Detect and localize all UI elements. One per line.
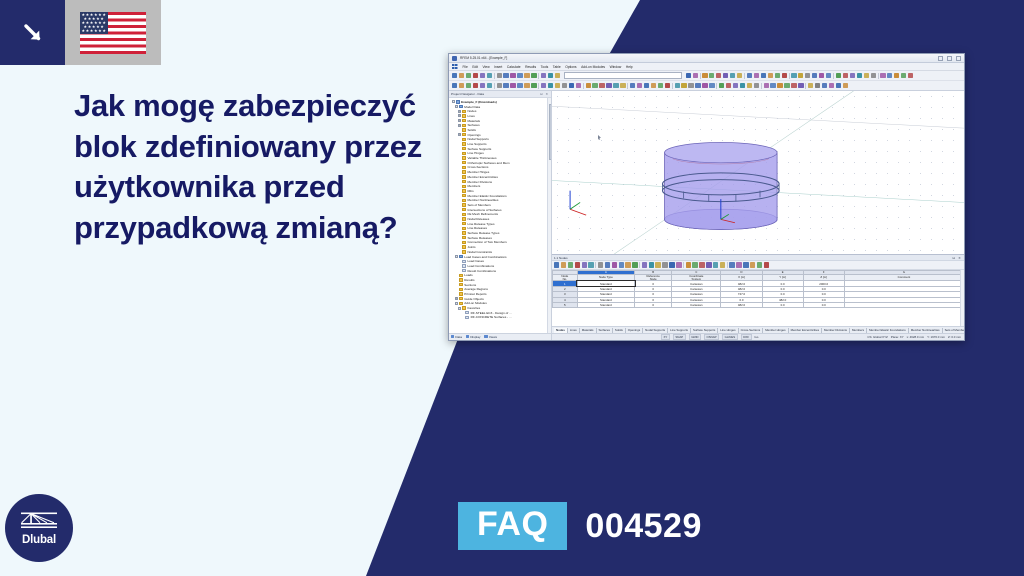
toolbar-separator	[700, 73, 701, 79]
folder-icon	[462, 119, 466, 122]
folder-icon	[462, 241, 466, 244]
statusbar-toggle[interactable]: GLINES	[722, 334, 738, 340]
toolbar-button[interactable]	[466, 83, 471, 88]
menu-item-help[interactable]: Help	[626, 65, 633, 69]
arrow-down-right-icon	[20, 20, 46, 46]
toolbar-button[interactable]	[729, 262, 734, 267]
table-panel-close-icon[interactable]: ⊟ ✕	[953, 256, 962, 260]
toolbar-button[interactable]	[750, 262, 755, 267]
toolbar-button[interactable]	[702, 73, 707, 78]
navigator-tab-display[interactable]: Display	[466, 335, 481, 339]
navigator-item-label: Nodal Constraints	[467, 250, 492, 254]
table-tab[interactable]: Members	[850, 328, 867, 333]
restore-icon[interactable]	[947, 56, 952, 61]
table-tab[interactable]: Lines	[568, 328, 580, 333]
toolbar-button[interactable]	[695, 83, 700, 88]
toolbar-button[interactable]	[480, 83, 485, 88]
tree-spacer	[458, 128, 461, 131]
toolbar-button[interactable]	[723, 73, 728, 78]
toolbar-button[interactable]	[798, 83, 803, 88]
toolbar-button[interactable]	[819, 73, 824, 78]
table-cell[interactable]	[844, 302, 963, 307]
app-toolbar-row1[interactable]	[449, 71, 964, 81]
toolbar-button[interactable]	[675, 83, 680, 88]
toolbar-button[interactable]	[620, 83, 625, 88]
statusbar-info: Z: 0.0 mm	[948, 335, 961, 339]
menu-item-window[interactable]: Window	[610, 65, 622, 69]
toolbar-button[interactable]	[669, 262, 674, 267]
expand-icon[interactable]: +	[458, 114, 461, 117]
toolbar-button[interactable]	[613, 83, 618, 88]
window-controls[interactable]	[938, 56, 961, 61]
folder-icon	[462, 185, 466, 188]
tree-spacer	[458, 171, 461, 174]
table-cell[interactable]: Standard	[577, 302, 635, 307]
toolbar-button[interactable]	[649, 262, 654, 267]
navigator-item-label: FE Mesh Refinements	[467, 212, 498, 216]
table-tab[interactable]: Cross-Sections	[739, 328, 764, 333]
toolbar-separator	[583, 83, 584, 89]
table-tab[interactable]: Materials	[580, 328, 597, 333]
app-menubar[interactable]: File Edit View Insert Calculate Results …	[449, 63, 964, 71]
toolbar-button[interactable]	[829, 83, 834, 88]
toolbar-button[interactable]	[606, 83, 611, 88]
toolbar-button[interactable]	[644, 83, 649, 88]
folder-icon	[459, 278, 463, 281]
toolbar-button[interactable]	[473, 83, 478, 88]
toolbar-button[interactable]	[630, 83, 635, 88]
table-tab[interactable]: Member Eccentricities	[789, 328, 822, 333]
toolbar-button[interactable]	[713, 262, 718, 267]
toolbar-button[interactable]	[880, 73, 885, 78]
folder-icon	[462, 147, 466, 150]
tree-spacer	[458, 147, 461, 150]
collapse-icon[interactable]: -	[458, 307, 461, 310]
tree-spacer	[458, 194, 461, 197]
toolbar-button[interactable]	[452, 73, 457, 78]
table-toolbar[interactable]	[552, 261, 964, 270]
toolbar-button[interactable]	[908, 73, 913, 78]
toolbar-button[interactable]	[798, 73, 803, 78]
navigator-item-label: Loads	[464, 273, 472, 277]
toolbar-button[interactable]	[764, 262, 769, 267]
toolbar-button[interactable]	[747, 83, 752, 88]
toolbar-button[interactable]	[702, 83, 707, 88]
nodes-table[interactable]: ABCDEFGNodeNo.Node TypeReferenceNodeCoor…	[552, 270, 964, 308]
table-tabstrip[interactable]: NodesLinesMaterialsSurfacesSolidsOpening…	[552, 326, 964, 333]
slide-canvas: ★★★★★★ ★★★★★ ★★★★★★ ★★★★★ ★★★★★★ Jak mog…	[0, 0, 1024, 576]
app-statusbar: XYSNAPGRIDOSNAPGLINESDXFIsoCS: Global XY…	[552, 333, 964, 340]
toolbar-button[interactable]	[864, 73, 869, 78]
toolbar-button[interactable]	[658, 83, 663, 88]
navigator-item-label: Line Hinges	[467, 151, 483, 155]
toolbar-button[interactable]	[686, 262, 691, 267]
navigator-close-icon[interactable]: ⊟ ✕	[540, 92, 549, 96]
toolbar-button[interactable]	[782, 73, 787, 78]
folder-icon	[459, 288, 463, 291]
toolbar-button[interactable]	[586, 83, 591, 88]
toolbar-button[interactable]	[843, 83, 848, 88]
navigator-item-label: Surface Release Types	[467, 231, 499, 235]
nodes-table-wrapper[interactable]: ABCDEFGNodeNo.Node TypeReferenceNodeCoor…	[552, 270, 964, 326]
table-scrollbar[interactable]	[960, 270, 964, 326]
toolbar-button[interactable]	[733, 83, 738, 88]
tree-spacer	[461, 316, 464, 319]
toolbar-separator	[595, 262, 596, 268]
navigator-item-label: Orthotropic Surfaces and Mem	[467, 161, 509, 165]
toolbar-button[interactable]	[473, 73, 478, 78]
toolbar-button[interactable]	[857, 73, 862, 78]
table-tab[interactable]: Member Nonlinearities	[909, 328, 943, 333]
folder-icon	[462, 269, 466, 272]
toolbar-button[interactable]	[764, 83, 769, 88]
toolbar-button[interactable]	[822, 83, 827, 88]
toolbar-button[interactable]	[770, 83, 775, 88]
tree-spacer	[458, 199, 461, 202]
tree-spacer	[458, 185, 461, 188]
menu-item-edit[interactable]: Edit	[472, 65, 478, 69]
toolbar-button[interactable]	[480, 73, 485, 78]
table-tab[interactable]: Nodes	[554, 328, 568, 333]
table-tab[interactable]: Nodal Supports	[643, 328, 668, 333]
rfem-application-window: RFEM 5.25.01 x64 - [Example_F] File Edit…	[448, 53, 965, 341]
toolbar-button[interactable]	[599, 83, 604, 88]
folder-icon	[459, 255, 463, 258]
toolbar-button[interactable]	[612, 262, 617, 267]
toolbar-button[interactable]	[871, 73, 876, 78]
toolbar-button[interactable]	[459, 73, 464, 78]
row-number-cell[interactable]: 5	[553, 302, 578, 307]
tree-spacer	[458, 222, 461, 225]
tree-spacer	[458, 213, 461, 216]
toolbar-button[interactable]	[497, 73, 502, 78]
tree-spacer	[455, 288, 458, 291]
navigator-item-label: Member Divisions	[467, 180, 492, 184]
toolbar-button[interactable]	[575, 262, 580, 267]
folder-icon	[462, 166, 466, 169]
folder-icon	[462, 156, 466, 159]
menu-item-view[interactable]: View	[483, 65, 490, 69]
navigator-item-label: Connection of Two Members	[467, 240, 506, 244]
toolbar-button[interactable]	[531, 73, 536, 78]
navigator-item-label: RF-CONCRETE Surfaces - ...	[471, 315, 512, 319]
toolbar-button[interactable]	[775, 73, 780, 78]
navigator-item-label: Sections	[464, 283, 476, 287]
tree-spacer	[455, 278, 458, 281]
toolbar-button[interactable]	[791, 83, 796, 88]
toolbar-button[interactable]	[720, 262, 725, 267]
navigator-item-label: Favorites	[467, 306, 480, 310]
expand-icon[interactable]: +	[458, 110, 461, 113]
toolbar-separator	[494, 73, 495, 79]
project-navigator: Project Navigator - Data ⊟ ✕ -Example_F …	[449, 91, 552, 340]
table-cell[interactable]: 0.0	[803, 302, 844, 307]
toolbar-button[interactable]	[541, 83, 546, 88]
collapse-icon[interactable]: -	[452, 100, 455, 103]
tree-spacer	[458, 161, 461, 164]
toolbar-button[interactable]	[719, 83, 724, 88]
toolbar-button[interactable]	[524, 73, 529, 78]
expand-icon[interactable]: +	[458, 119, 461, 122]
app-titlebar: RFEM 5.25.01 x64 - [Example_F]	[449, 54, 964, 63]
tree-spacer	[458, 152, 461, 155]
toolbar-button[interactable]	[569, 83, 574, 88]
folder-icon	[462, 236, 466, 239]
toolbar-button[interactable]	[736, 262, 741, 267]
toolbar-button[interactable]	[737, 73, 742, 78]
toolbar-button[interactable]	[791, 73, 796, 78]
folder-icon	[462, 222, 466, 225]
toolbar-button[interactable]	[582, 262, 587, 267]
toolbar-button[interactable]	[754, 73, 759, 78]
statusbar-info: Y: 1976.0 mm	[927, 335, 945, 339]
toolbar-separator	[627, 83, 628, 89]
table-tab[interactable]: Member Hinges	[763, 328, 788, 333]
navigator-item-label: Members	[467, 184, 480, 188]
navigator-scrollbar[interactable]	[547, 98, 551, 333]
toolbar-button[interactable]	[561, 262, 566, 267]
toolbar-button[interactable]	[757, 262, 762, 267]
navigator-item-label: Joints	[467, 245, 475, 249]
toolbar-button[interactable]	[850, 73, 855, 78]
expand-icon[interactable]: +	[455, 297, 458, 300]
table-tab[interactable]: Member Elastic Foundations	[867, 328, 909, 333]
navigator-item-label: Member Elastic Foundations	[467, 194, 506, 198]
toolbar-button[interactable]	[826, 73, 831, 78]
toolbar-button[interactable]	[805, 73, 810, 78]
toolbar-button[interactable]	[531, 83, 536, 88]
table-tab[interactable]: Surfaces	[597, 328, 613, 333]
toolbar-button[interactable]	[598, 262, 603, 267]
toolbar-separator	[672, 83, 673, 89]
table-cell[interactable]: Cartesian	[672, 302, 721, 307]
toolbar-button[interactable]	[517, 83, 522, 88]
tree-spacer	[458, 203, 461, 206]
toolbar-button[interactable]	[716, 73, 721, 78]
toolbar-button[interactable]	[554, 262, 559, 267]
table-tab[interactable]: Line Supports	[668, 328, 691, 333]
statusbar-toggle[interactable]: GRID	[689, 334, 701, 340]
toolbar-button[interactable]	[642, 262, 647, 267]
toolbar-button[interactable]	[632, 262, 637, 267]
toolbar-button[interactable]	[555, 73, 560, 78]
table-panel: 1.1 Nodes ⊟ ✕ ABCDEFGNodeNo.Node TypeRef…	[552, 254, 964, 333]
table-tab[interactable]: Sets of Members	[943, 328, 964, 333]
table-tab[interactable]: Openings	[626, 328, 643, 333]
navigator-item-label: Add-on Modules	[464, 301, 487, 305]
menu-item-table[interactable]: Table	[553, 65, 561, 69]
table-tab[interactable]: Line Hinges	[718, 328, 738, 333]
folder-icon	[462, 194, 466, 197]
toolbar-button[interactable]	[503, 73, 508, 78]
expand-icon[interactable]: +	[458, 124, 461, 127]
toolbar-button[interactable]	[777, 83, 782, 88]
table-cell[interactable]: 482.0	[721, 302, 762, 307]
toolbar-button[interactable]	[812, 73, 817, 78]
tree-spacer	[458, 189, 461, 192]
toolbar-button[interactable]	[655, 262, 660, 267]
toolbar-button[interactable]	[541, 73, 546, 78]
dlubal-logo[interactable]: Dlubal	[5, 494, 73, 562]
toolbar-button[interactable]	[576, 83, 581, 88]
toolbar-button[interactable]	[625, 262, 630, 267]
toolbar-button[interactable]	[487, 73, 492, 78]
toolbar-button[interactable]	[743, 262, 748, 267]
model-viewport-3d[interactable]	[552, 91, 964, 254]
toolbar-button[interactable]	[665, 83, 670, 88]
folder-icon	[462, 170, 466, 173]
toolbar-button[interactable]	[568, 262, 573, 267]
toolbar-button[interactable]	[887, 73, 892, 78]
toolbar-button[interactable]	[487, 83, 492, 88]
navigator-tab-data[interactable]: Data	[451, 335, 462, 339]
statusbar-toggle[interactable]: DXF	[741, 334, 752, 340]
minimize-icon[interactable]	[938, 56, 943, 61]
folder-icon	[462, 250, 466, 253]
toolbar-button[interactable]	[768, 73, 773, 78]
toolbar-button[interactable]	[562, 83, 567, 88]
navigator-item-label: Printout Reports	[464, 292, 486, 296]
folder-icon	[462, 124, 466, 127]
toolbar-button[interactable]	[709, 73, 714, 78]
toolbar-button[interactable]	[503, 83, 508, 88]
toolbar-separator	[789, 73, 790, 79]
folder-icon	[462, 175, 466, 178]
navigator-item-label: Guide Objects	[464, 297, 484, 301]
app-toolbar-row2[interactable]	[449, 81, 964, 91]
toolbar-button[interactable]	[497, 83, 502, 88]
toolbar-button[interactable]	[754, 83, 759, 88]
collapse-icon[interactable]: -	[455, 105, 458, 108]
navigator-tab-views[interactable]: Views	[484, 335, 497, 339]
menu-item-calculate[interactable]: Calculate	[507, 65, 521, 69]
tree-spacer	[458, 166, 461, 169]
tree-spacer	[458, 180, 461, 183]
toolbar-button[interactable]	[459, 83, 464, 88]
navigator-tree[interactable]: -Example_F (Downloads)-Model Data+Nodes+…	[449, 98, 551, 333]
menu-item-tools[interactable]: Tools	[541, 65, 549, 69]
toolbar-button[interactable]	[676, 262, 681, 267]
statusbar-toggle[interactable]: OSNAP	[704, 334, 719, 340]
expand-icon[interactable]: +	[458, 133, 461, 136]
statusbar-toggle[interactable]: SNAP	[673, 334, 686, 340]
toolbar-button[interactable]	[693, 73, 698, 78]
menu-item-addon-modules[interactable]: Add-on Modules	[581, 65, 605, 69]
toolbar-button[interactable]	[709, 83, 714, 88]
navigator-tree-item[interactable]: RF-CONCRETE Surfaces - ...	[451, 315, 552, 320]
toolbar-button[interactable]	[740, 83, 745, 88]
menu-item-options[interactable]: Options	[565, 65, 576, 69]
menu-item-file[interactable]: File	[463, 65, 468, 69]
toolbar-button[interactable]	[894, 73, 899, 78]
table-row[interactable]: 5Standard0Cartesian482.00.00.0	[553, 302, 964, 307]
folder-icon	[462, 161, 466, 164]
folder-icon	[462, 264, 466, 267]
collapse-icon[interactable]: -	[455, 255, 458, 258]
toolbar-button[interactable]	[747, 73, 752, 78]
grid-icon	[452, 64, 458, 69]
toolbar-combobox[interactable]	[564, 72, 682, 78]
toolbar-button[interactable]	[808, 83, 813, 88]
table-cell[interactable]: 0.0	[762, 302, 803, 307]
navigator-item-label: Nodal Supports	[467, 137, 488, 141]
tree-spacer	[458, 138, 461, 141]
toolbar-button[interactable]	[692, 262, 697, 267]
toolbar-button[interactable]	[517, 73, 522, 78]
toolbar-button[interactable]	[836, 83, 841, 88]
toolbar-button[interactable]	[592, 83, 597, 88]
toolbar-button[interactable]	[730, 73, 735, 78]
model-3d-graphics	[552, 91, 964, 254]
toolbar-button[interactable]	[699, 262, 704, 267]
toolbar-separator	[538, 73, 539, 79]
collapse-icon[interactable]: -	[455, 302, 458, 305]
table-tab[interactable]: Member Divisions	[822, 328, 850, 333]
toolbar-button[interactable]	[662, 262, 667, 267]
toolbar-button[interactable]	[548, 83, 553, 88]
toolbar-button[interactable]	[605, 262, 610, 267]
toolbar-button[interactable]	[637, 83, 642, 88]
toolbar-button[interactable]	[761, 73, 766, 78]
logo-wordmark: Dlubal	[22, 534, 56, 546]
toolbar-button[interactable]	[901, 73, 906, 78]
toolbar-button[interactable]	[555, 83, 560, 88]
toolbar-button[interactable]	[510, 73, 515, 78]
navigator-item-label: Surface Supports	[467, 147, 491, 151]
navigator-item-label: Variable Thicknesses	[467, 156, 496, 160]
toolbar-button[interactable]	[784, 83, 789, 88]
folder-icon	[462, 138, 466, 141]
navigator-tabs[interactable]: Data Display Views	[449, 333, 551, 341]
toolbar-button[interactable]	[706, 262, 711, 267]
navigator-item-label: Load Cases and Combinations	[464, 255, 506, 259]
close-icon[interactable]	[956, 56, 961, 61]
table-cell[interactable]: 0	[635, 302, 672, 307]
menu-item-results[interactable]: Results	[525, 65, 536, 69]
toolbar-button[interactable]	[688, 83, 693, 88]
table-tab[interactable]: Surface Supports	[691, 328, 718, 333]
toolbar-button[interactable]	[726, 83, 731, 88]
faq-number: 004529	[585, 507, 701, 546]
tree-spacer	[458, 246, 461, 249]
toolbar-button[interactable]	[619, 262, 624, 267]
navigator-item-label: Surface Releases	[467, 236, 491, 240]
table-tab[interactable]: Solids	[613, 328, 626, 333]
navigator-item-label: Materials	[467, 119, 480, 123]
app-workarea: Project Navigator - Data ⊟ ✕ -Example_F …	[449, 91, 964, 340]
toolbar-button[interactable]	[510, 83, 515, 88]
toolbar-button[interactable]	[466, 73, 471, 78]
folder-icon	[462, 180, 466, 183]
folder-icon	[462, 110, 466, 113]
toolbar-button[interactable]	[843, 73, 848, 78]
arrow-badge	[0, 0, 65, 65]
toolbar-button[interactable]	[686, 73, 691, 78]
toolbar-separator	[683, 262, 684, 268]
folder-icon	[462, 189, 466, 192]
toolbar-button[interactable]	[548, 73, 553, 78]
toolbar-button[interactable]	[815, 83, 820, 88]
toolbar-button[interactable]	[524, 83, 529, 88]
menu-item-insert[interactable]: Insert	[494, 65, 502, 69]
toolbar-button[interactable]	[651, 83, 656, 88]
toolbar-button[interactable]	[681, 83, 686, 88]
toolbar-button[interactable]	[588, 262, 593, 267]
toolbar-button[interactable]	[452, 83, 457, 88]
toolbar-button[interactable]	[836, 73, 841, 78]
navigator-item-label: Line Release Types	[467, 222, 494, 226]
statusbar-toggle[interactable]: XY	[661, 334, 670, 340]
